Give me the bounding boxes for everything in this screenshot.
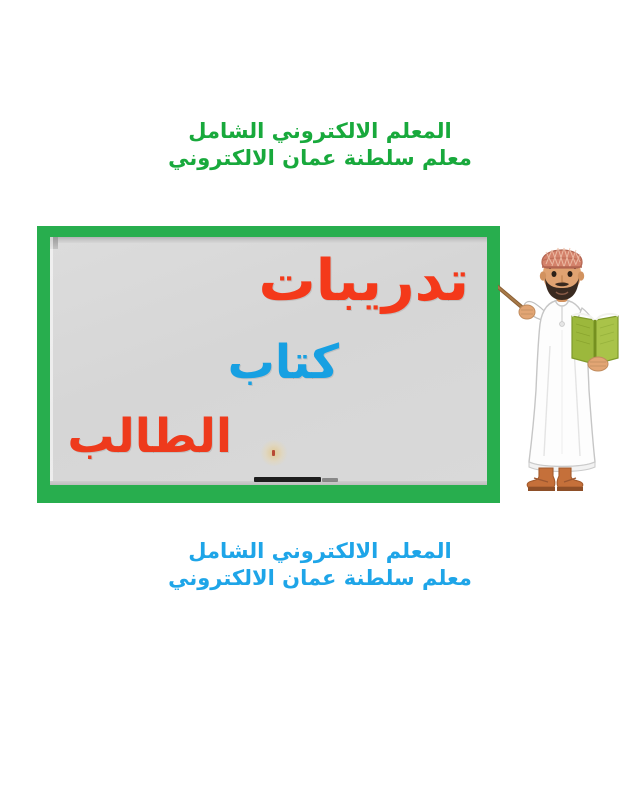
whiteboard-marker-cap (322, 478, 338, 482)
teacher-illustration (498, 238, 626, 510)
board-word-kitab: كتاب (228, 339, 339, 386)
whiteboard-frame: تدريبات كتاب الطالب (37, 226, 500, 503)
teacher-right-hand (588, 357, 608, 371)
footer-line-1: المعلم الالكتروني الشامل (0, 538, 640, 565)
header-line-2: معلم سلطنة عمان الالكتروني (0, 145, 640, 172)
footer-line-2: معلم سلطنة عمان الالكتروني (0, 565, 640, 592)
whiteboard-left-highlight (50, 237, 53, 485)
kumma-cap-icon (542, 248, 582, 268)
footer-title: المعلم الالكتروني الشامل معلم سلطنة عمان… (0, 538, 640, 592)
whiteboard-marker (254, 477, 321, 482)
poster-page: المعلم الالكتروني الشامل معلم سلطنة عمان… (0, 0, 640, 804)
whiteboard-top-rail (50, 237, 487, 243)
book-icon (572, 314, 618, 364)
board-word-talib: الطالب (67, 413, 232, 460)
board-word-tadribat: تدريبات (259, 253, 470, 310)
header-title: المعلم الالكتروني الشامل معلم سلطنة عمان… (0, 118, 640, 172)
whiteboard-smudge-dot (272, 450, 275, 456)
teacher-left-hand (519, 305, 535, 319)
whiteboard-surface: تدريبات كتاب الطالب (50, 237, 487, 485)
header-line-1: المعلم الالكتروني الشامل (0, 118, 640, 145)
